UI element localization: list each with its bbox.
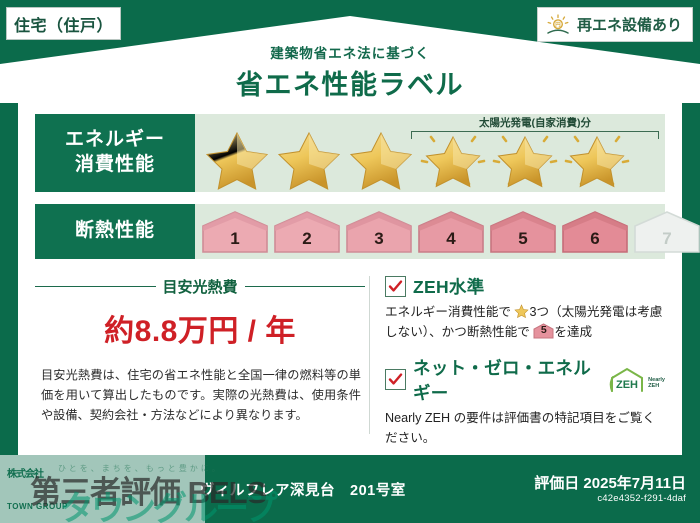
sun-icon: 円 [545, 14, 571, 36]
property-name: ヴィルフレア深見台 201号室 [200, 479, 406, 500]
insulation-house-7: 7 [633, 210, 700, 253]
watermark-mark: 株式会社 [7, 465, 68, 480]
zeh-standard-block: ZEH水準 エネルギー消費性能で 3つ（太陽光発電は考慮しない）、かつ断熱性能で… [385, 274, 665, 343]
energy-label-line2: 消費性能 [75, 154, 155, 175]
insulation-level-number: 2 [273, 229, 341, 249]
star-icon-solar [489, 128, 561, 190]
vertical-divider [369, 276, 370, 434]
net-zero-block: ネット・ゼロ・エネルギー ZEH Nearly ZEH [385, 355, 665, 449]
evaluation-date: 評価日 2025年7月11日 [534, 472, 686, 493]
net-zero-body: Nearly ZEH の要件は評価書の特記項目をご覧ください。 [385, 408, 665, 449]
watermark-brand-en: TOWN GROUP [7, 502, 68, 511]
energy-cost-heading-text: 目安光熱費 [163, 276, 238, 297]
heading-rule-right [245, 286, 366, 288]
title-subtitle: 建築物省エネ法に基づく [0, 42, 700, 62]
star-icon [201, 128, 273, 190]
heading-rule-left [35, 286, 156, 288]
insulation-badge-number: 5 [533, 322, 554, 339]
label-card: エネルギー 消費性能 太陽光発電(自家消費)分 [18, 100, 682, 455]
star-icon-inline [514, 304, 529, 318]
insulation-level-number: 7 [633, 229, 700, 249]
insulation-row-label: 断熱性能 [35, 204, 195, 259]
housing-type-tag: 住宅（住戸） [6, 7, 121, 40]
checkbox-checked-icon[interactable] [385, 276, 406, 297]
watermark-logo: 株式会社 TOWN GROUP [7, 465, 68, 511]
insulation-house-2: 2 [273, 210, 341, 253]
star-icon [273, 128, 345, 190]
label-uid: c42e4352-f291-4daf [597, 493, 686, 504]
watermark-tagline: ひとを、まちを、もっと豊かに。 [58, 463, 223, 474]
insulation-level-number: 3 [345, 229, 413, 249]
energy-performance-row: エネルギー 消費性能 太陽光発電(自家消費)分 [35, 114, 665, 192]
energy-cost-value: 約8.8万円 / 年 [35, 306, 365, 350]
insulation-row-body: 1 2 3 4 5 [195, 204, 665, 259]
zeh-standard-header: ZEH水準 [385, 274, 665, 299]
renewable-equipment-badge: 円 再エネ設備あり [537, 7, 693, 42]
energy-cost-note: 目安光熱費は、住宅の省エネ性能と全国一律の燃料等の単価を用いて算出したものです。… [35, 366, 365, 425]
insulation-badge-icon: 5 [533, 323, 554, 339]
svg-text:ZEH: ZEH [616, 379, 638, 391]
label-lower-section: 目安光熱費 約8.8万円 / 年 目安光熱費は、住宅の省エネ性能と全国一律の燃料… [35, 272, 665, 440]
zeh-logo: ZEH Nearly ZEH [608, 366, 665, 393]
energy-performance-label: 住宅（住戸） 円 再エネ設備あり 建築物省エネ法に基づく 省エネ性能ラベル [0, 0, 700, 523]
title-main: 省エネ性能ラベル [0, 63, 700, 102]
energy-row-label: エネルギー 消費性能 [35, 114, 195, 192]
zeh-standard-body: エネルギー消費性能で 3つ（太陽光発電は考慮しない）、かつ断熱性能で 5 を達成 [385, 302, 665, 343]
insulation-house-6: 6 [561, 210, 629, 253]
insulation-house-5: 5 [489, 210, 557, 253]
insulation-level-number: 6 [561, 229, 629, 249]
insulation-level-number: 4 [417, 229, 485, 249]
insulation-house-4: 4 [417, 210, 485, 253]
svg-text:円: 円 [555, 21, 561, 28]
net-zero-header: ネット・ゼロ・エネルギー ZEH Nearly ZEH [385, 355, 665, 405]
label-title: 建築物省エネ法に基づく 省エネ性能ラベル [0, 42, 700, 102]
zeh-body-part1: エネルギー消費性能で [385, 305, 511, 319]
star-icon [345, 128, 417, 190]
star-icon-solar [561, 128, 633, 190]
star-rating [195, 128, 665, 190]
energy-row-body: 太陽光発電(自家消費)分 [195, 114, 665, 192]
insulation-level-number: 5 [489, 229, 557, 249]
insulation-level-scale: 1 2 3 4 5 [201, 204, 665, 259]
insulation-level-number: 1 [201, 229, 269, 249]
zeh-section: ZEH水準 エネルギー消費性能で 3つ（太陽光発電は考慮しない）、かつ断熱性能で… [385, 272, 665, 449]
zeh-logo-sub2: ZEH [648, 383, 659, 389]
star-icon-solar [417, 128, 489, 190]
zeh-standard-title: ZEH水準 [413, 274, 485, 299]
insulation-performance-row: 断熱性能 1 2 3 [35, 204, 665, 259]
renewable-badge-label: 再エネ設備あり [577, 14, 682, 35]
energy-cost-heading: 目安光熱費 [35, 276, 365, 297]
energy-cost-section: 目安光熱費 約8.8万円 / 年 目安光熱費は、住宅の省エネ性能と全国一律の燃料… [35, 272, 365, 440]
zeh-body-part3: を達成 [554, 325, 592, 339]
net-zero-title: ネット・ゼロ・エネルギー [413, 355, 597, 405]
insulation-house-3: 3 [345, 210, 413, 253]
energy-label-line1: エネルギー [65, 129, 165, 150]
insulation-house-1: 1 [201, 210, 269, 253]
checkbox-checked-icon[interactable] [385, 369, 406, 390]
label-footer: ヴィルフレア深見台 201号室 評価日 2025年7月11日 c42e4352-… [0, 455, 700, 523]
